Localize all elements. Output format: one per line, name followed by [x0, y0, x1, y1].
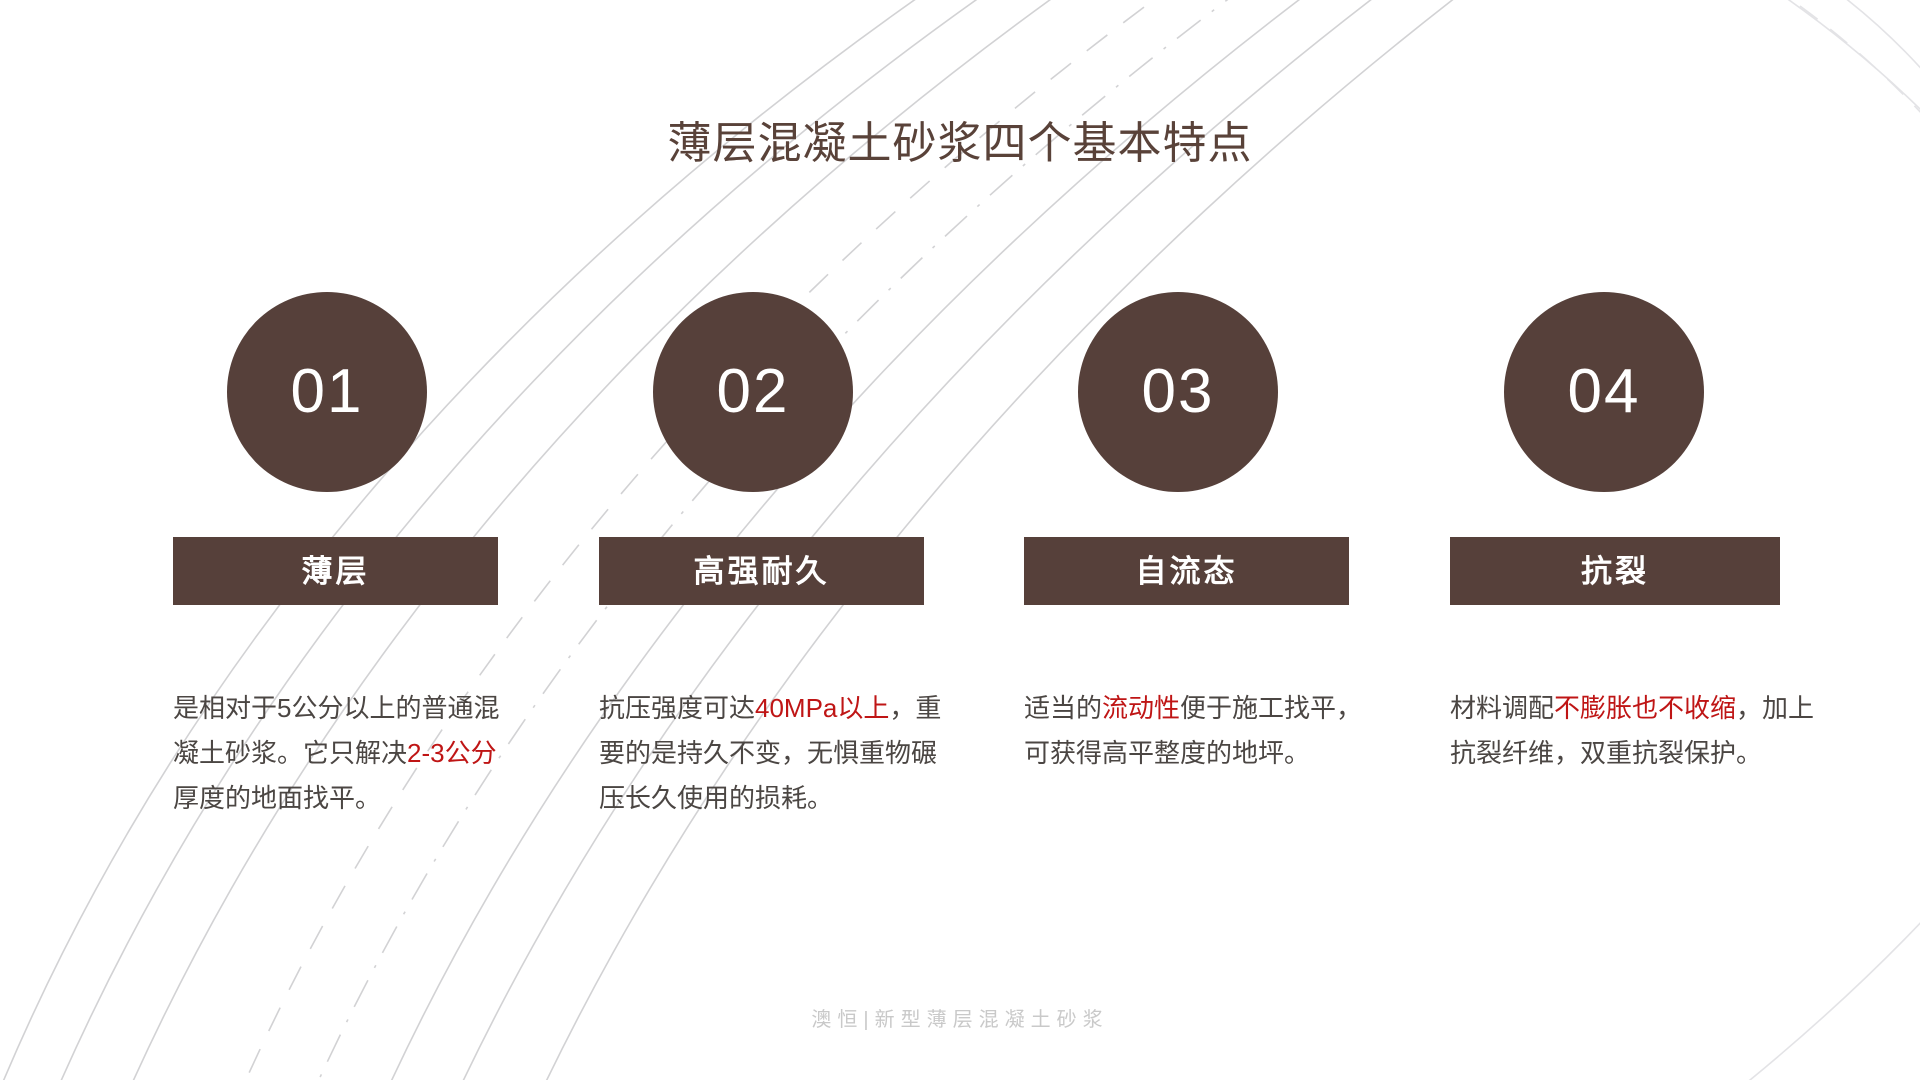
highlighted-text-run: 不膨胀也不收缩: [1554, 693, 1736, 723]
feature-column-01: 01 薄层 是相对于5公分以上的普通混凝土砂浆。它只解决2-3公分厚度的地面找平…: [157, 0, 577, 1080]
highlighted-text-run: 40MPa以上: [755, 693, 889, 723]
feature-number-circle-01: 01: [227, 292, 427, 492]
slide-canvas: 薄层混凝土砂浆四个基本特点 01 薄层 是相对于5公分以上的普通混凝土砂浆。它只…: [0, 0, 1920, 1080]
feature-number-circle-02: 02: [653, 292, 853, 492]
feature-label-box-04: 抗裂: [1450, 537, 1780, 605]
text-run: 适当的: [1024, 693, 1102, 723]
feature-body-text-04: 材料调配不膨胀也不收缩，加上抗裂纤维，双重抗裂保护。: [1450, 686, 1825, 776]
feature-column-02: 02 高强耐久 抗压强度可达40MPa以上，重要的是持久不变，无惧重物碾压长久使…: [583, 0, 1003, 1080]
feature-number-label: 04: [1568, 361, 1641, 423]
feature-number-label: 01: [291, 361, 364, 423]
feature-body-text-01: 是相对于5公分以上的普通混凝土砂浆。它只解决2-3公分厚度的地面找平。: [173, 686, 518, 821]
feature-label-text: 薄层: [302, 556, 370, 587]
text-run: 抗压强度可达: [599, 693, 755, 723]
feature-label-text: 自流态: [1136, 556, 1238, 587]
text-run: 材料调配: [1450, 693, 1554, 723]
text-run: 厚度的地面找平。: [173, 783, 381, 813]
feature-number-circle-04: 04: [1504, 292, 1704, 492]
feature-label-text: 抗裂: [1581, 556, 1649, 587]
feature-number-label: 02: [717, 361, 790, 423]
feature-label-box-03: 自流态: [1024, 537, 1349, 605]
feature-column-04: 04 抗裂 材料调配不膨胀也不收缩，加上抗裂纤维，双重抗裂保护。: [1434, 0, 1854, 1080]
feature-label-text: 高强耐久: [694, 556, 830, 587]
feature-label-box-02: 高强耐久: [599, 537, 924, 605]
highlighted-text-run: 2-3公分: [407, 738, 497, 768]
feature-body-text-03: 适当的流动性便于施工找平，可获得高平整度的地坪。: [1024, 686, 1369, 776]
feature-body-text-02: 抗压强度可达40MPa以上，重要的是持久不变，无惧重物碾压长久使用的损耗。: [599, 686, 944, 821]
slide-footer-brand: 澳恒|新型薄层混凝土砂浆: [0, 1003, 1920, 1032]
feature-column-03: 03 自流态 适当的流动性便于施工找平，可获得高平整度的地坪。: [1008, 0, 1428, 1080]
feature-number-circle-03: 03: [1078, 292, 1278, 492]
feature-label-box-01: 薄层: [173, 537, 498, 605]
feature-number-label: 03: [1142, 361, 1215, 423]
highlighted-text-run: 流动性: [1102, 693, 1180, 723]
